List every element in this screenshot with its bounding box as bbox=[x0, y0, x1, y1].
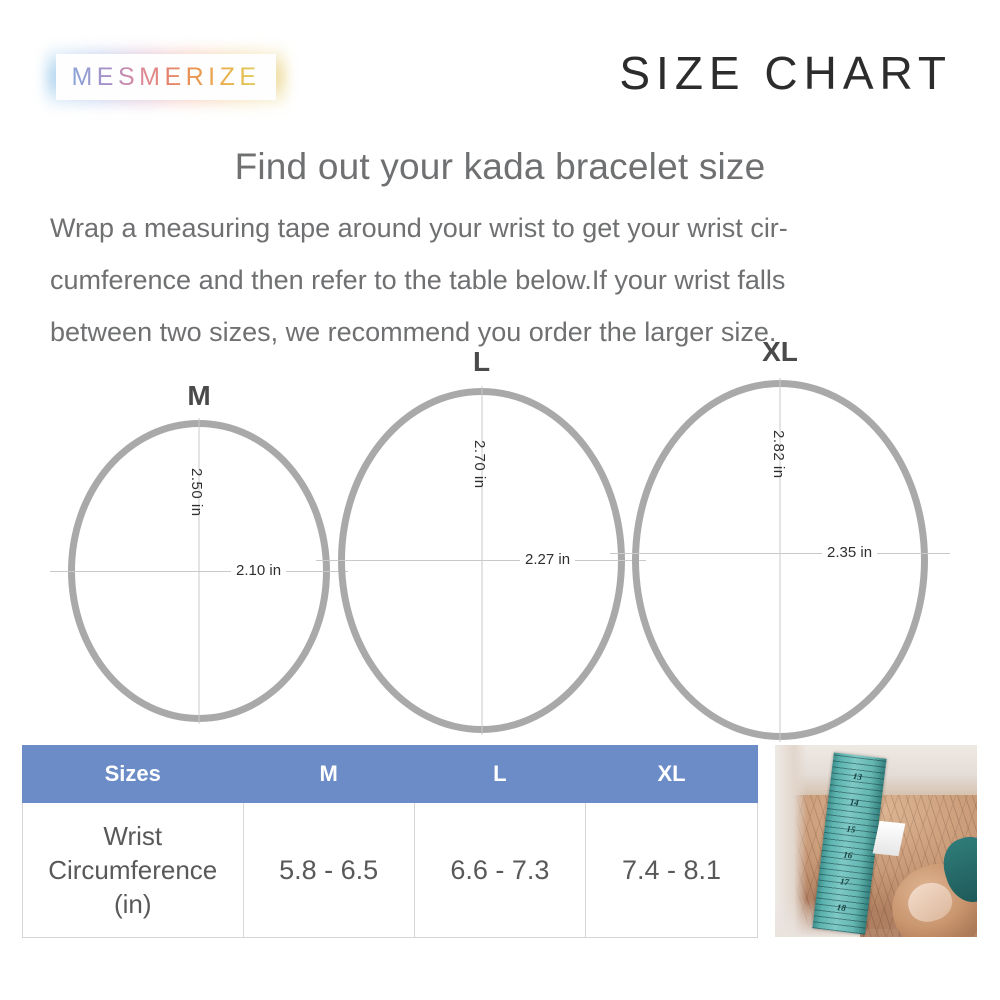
cell-wrist-circumference-xl: 7.4 - 8.1 bbox=[586, 803, 758, 938]
row-header-line-2: Circumference bbox=[48, 855, 217, 885]
page-title: SIZE CHART bbox=[619, 46, 952, 100]
diagram-xl-label: XL bbox=[762, 336, 798, 368]
diagram-m: M 2.50 in 2.10 in bbox=[68, 420, 330, 722]
diagram-xl-width-label: 2.35 in bbox=[822, 544, 877, 561]
headline: Find out your kada bracelet size bbox=[0, 146, 1000, 188]
table-row: Wrist Circumference (in) 5.8 - 6.5 6.6 -… bbox=[23, 803, 758, 938]
wrist-measurement-photo: 13 14 15 16 17 18 bbox=[775, 745, 977, 937]
row-header-line-3: (in) bbox=[114, 889, 152, 919]
column-header-sizes: Sizes bbox=[23, 746, 244, 803]
diagram-m-horizontal-axis bbox=[50, 571, 348, 572]
diagram-m-height-label: 2.50 in bbox=[188, 468, 205, 517]
column-header-xl: XL bbox=[586, 746, 758, 803]
diagram-m-width-label: 2.10 in bbox=[231, 562, 286, 579]
diagram-l-width-label: 2.27 in bbox=[520, 551, 575, 568]
diagram-l-horizontal-axis bbox=[316, 560, 646, 561]
diagram-l-label: L bbox=[473, 346, 490, 378]
diagram-xl-height-label: 2.82 in bbox=[770, 430, 787, 479]
row-header-wrist-circumference: Wrist Circumference (in) bbox=[23, 803, 244, 938]
table-header-row: Sizes M L XL bbox=[23, 746, 758, 803]
diagram-l-height-label: 2.70 in bbox=[471, 440, 488, 489]
diagram-xl-horizontal-axis bbox=[610, 553, 950, 554]
diagram-xl: XL 2.82 in 2.35 in bbox=[632, 380, 928, 740]
size-diagrams: M 2.50 in 2.10 in L 2.70 in 2.27 in XL 2… bbox=[0, 340, 1000, 740]
size-table: Sizes M L XL Wrist Circumference (in) 5.… bbox=[22, 745, 758, 938]
intro-line-2: cumference and then refer to the table b… bbox=[50, 254, 954, 306]
intro-paragraph: Wrap a measuring tape around your wrist … bbox=[50, 202, 954, 358]
brand-logo: MESMERIZE bbox=[46, 46, 286, 108]
brand-name: MESMERIZE bbox=[46, 46, 286, 108]
size-chart-page: MESMERIZE SIZE CHART Find out your kada … bbox=[0, 0, 1000, 1000]
intro-line-1: Wrap a measuring tape around your wrist … bbox=[50, 202, 954, 254]
column-header-l: L bbox=[414, 746, 585, 803]
row-header-line-1: Wrist bbox=[103, 821, 162, 851]
cell-wrist-circumference-l: 6.6 - 7.3 bbox=[414, 803, 585, 938]
column-header-m: M bbox=[243, 746, 414, 803]
diagram-m-label: M bbox=[187, 380, 210, 412]
cell-wrist-circumference-m: 5.8 - 6.5 bbox=[243, 803, 414, 938]
diagram-l: L 2.70 in 2.27 in bbox=[338, 388, 625, 733]
